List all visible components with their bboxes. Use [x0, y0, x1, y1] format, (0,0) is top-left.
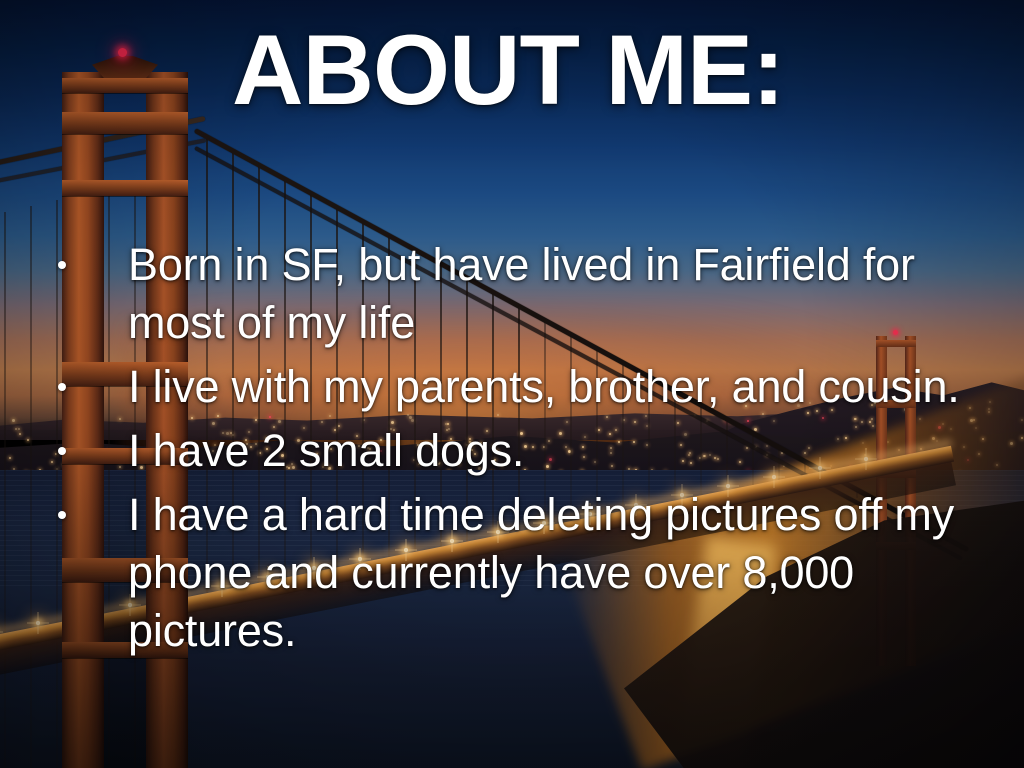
- slide-content: ABOUT ME: Born in SF, but have lived in …: [0, 0, 1024, 768]
- bullet-marker-icon: [46, 358, 128, 396]
- bullet-marker-icon: [46, 422, 128, 460]
- slide-title: ABOUT ME:: [0, 20, 1024, 119]
- bullet-text: I live with my parents, brother, and cou…: [128, 358, 976, 416]
- bullet-text: Born in SF, but have lived in Fairfield …: [128, 236, 976, 352]
- bullet-marker-icon: [46, 236, 128, 274]
- bullet-marker-icon: [46, 486, 128, 524]
- bullet-text: I have 2 small dogs.: [128, 422, 976, 480]
- bullet-text: I have a hard time deleting pictures off…: [128, 486, 976, 660]
- bullet-item: Born in SF, but have lived in Fairfield …: [46, 236, 976, 352]
- bullet-item: I live with my parents, brother, and cou…: [46, 358, 976, 416]
- bullet-list: Born in SF, but have lived in Fairfield …: [46, 236, 976, 666]
- bullet-item: I have 2 small dogs.: [46, 422, 976, 480]
- slide-root: ABOUT ME: Born in SF, but have lived in …: [0, 0, 1024, 768]
- bullet-item: I have a hard time deleting pictures off…: [46, 486, 976, 660]
